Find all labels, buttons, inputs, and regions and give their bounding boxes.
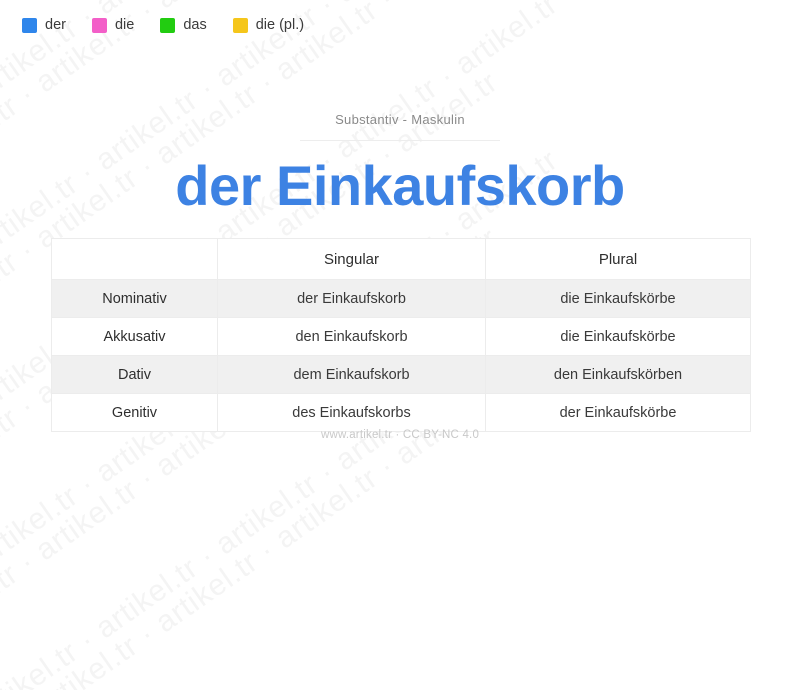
cell-plural-nominativ: die Einkaufskörbe [486, 280, 751, 318]
legend-item-das-2: das [160, 18, 206, 33]
column-header-plural: Plural [486, 239, 751, 280]
legend-item-der-0: der [22, 18, 66, 33]
legend-label: das [183, 18, 206, 33]
cell-singular-genitiv: des Einkaufskorbs [218, 394, 486, 432]
table-row: Dativdem Einkaufskorbden Einkaufskörben [52, 356, 751, 394]
article-color-legend: derdiedasdie (pl.) [22, 18, 330, 33]
color-swatch-pink [92, 18, 107, 33]
table-header-row: Singular Plural [52, 239, 751, 280]
column-header-case [52, 239, 218, 280]
table-row: Genitivdes Einkaufskorbsder Einkaufskörb… [52, 394, 751, 432]
cell-case-nominativ: Nominativ [52, 280, 218, 318]
cell-plural-genitiv: der Einkaufskörbe [486, 394, 751, 432]
legend-item-die-1: die [92, 18, 134, 33]
cell-case-akkusativ: Akkusativ [52, 318, 218, 356]
cell-case-genitiv: Genitiv [52, 394, 218, 432]
cell-plural-akkusativ: die Einkaufskörbe [486, 318, 751, 356]
table-row: Nominativder Einkaufskorbdie Einkaufskör… [52, 280, 751, 318]
declension-table: Singular Plural Nominativder Einkaufskor… [51, 238, 751, 432]
footer-attribution: www.artikel.tr · CC BY-NC 4.0 [0, 429, 800, 441]
table-row: Akkusativden Einkaufskorbdie Einkaufskör… [52, 318, 751, 356]
word-type-subtitle: Substantiv - Maskulin [0, 112, 800, 140]
subtitle-divider [300, 140, 500, 141]
legend-item-diepl-3: die (pl.) [233, 18, 304, 33]
legend-label: die [115, 18, 134, 33]
legend-label: der [45, 18, 66, 33]
cell-case-dativ: Dativ [52, 356, 218, 394]
page-title: der Einkaufskorb [0, 157, 800, 216]
table-body: Nominativder Einkaufskorbdie Einkaufskör… [52, 280, 751, 432]
infographic-page: derdiedasdie (pl.) Substantiv - Maskulin… [0, 0, 800, 533]
cell-plural-dativ: den Einkaufskörben [486, 356, 751, 394]
color-swatch-gold [233, 18, 248, 33]
column-header-singular: Singular [218, 239, 486, 280]
cell-singular-nominativ: der Einkaufskorb [218, 280, 486, 318]
legend-label: die (pl.) [256, 18, 304, 33]
cell-singular-akkusativ: den Einkaufskorb [218, 318, 486, 356]
cell-singular-dativ: dem Einkaufskorb [218, 356, 486, 394]
color-swatch-green [160, 18, 175, 33]
color-swatch-blue [22, 18, 37, 33]
header-block: Substantiv - Maskulin der Einkaufskorb [0, 112, 800, 216]
table-header: Singular Plural [52, 239, 751, 280]
